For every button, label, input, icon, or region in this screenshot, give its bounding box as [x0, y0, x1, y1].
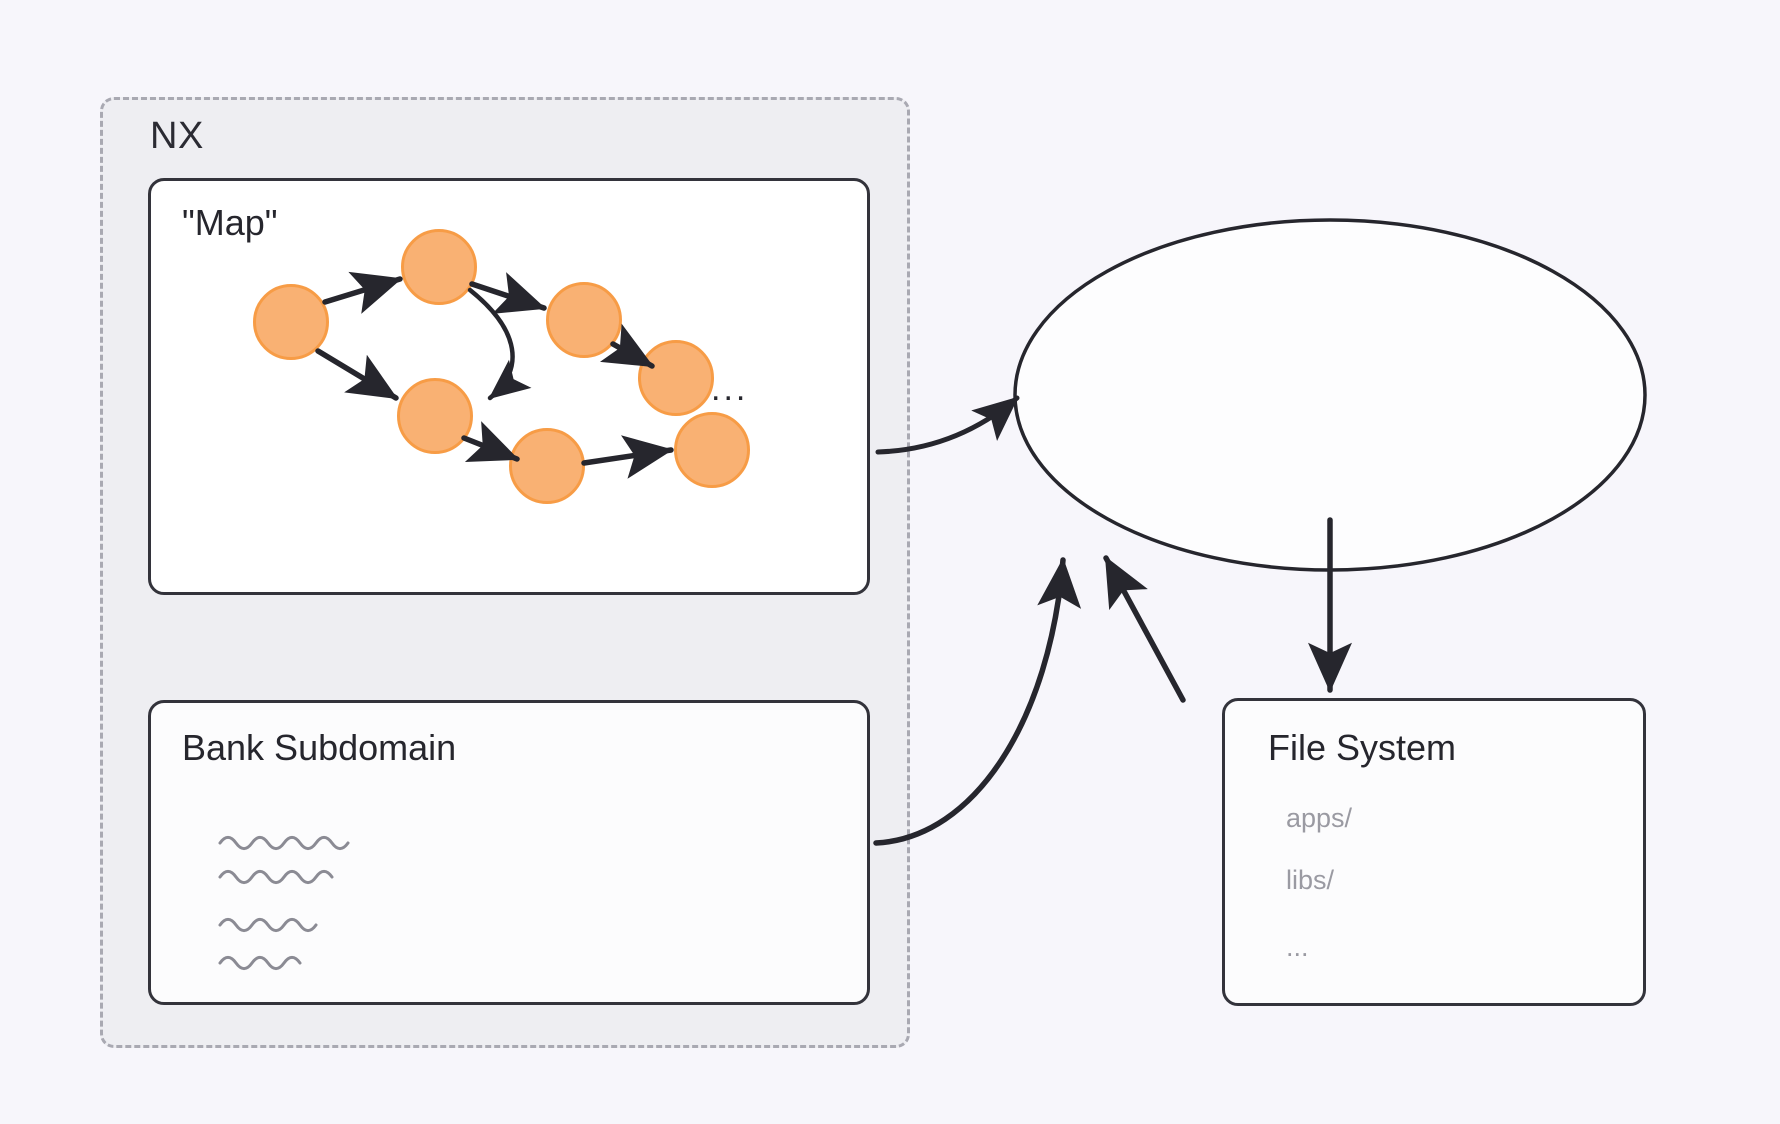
map-graph-node[interactable]	[253, 284, 329, 360]
arrow-filesystem-to-assistant	[1106, 558, 1183, 700]
diagram-canvas: NX "Map" ... Bank Subdomain File System …	[0, 0, 1780, 1124]
map-graph-node[interactable]	[397, 378, 473, 454]
map-graph-node[interactable]	[674, 412, 750, 488]
nx-label: NX	[150, 117, 204, 155]
file-system-title: File System	[1268, 730, 1456, 766]
file-system-entry-apps: apps/	[1286, 805, 1352, 832]
map-graph-node[interactable]	[546, 282, 622, 358]
map-graph-node[interactable]	[638, 340, 714, 416]
coding-assistant-label: Coding Assistant	[1015, 372, 1645, 410]
map-card-title: "Map"	[182, 205, 278, 241]
map-graph-node[interactable]	[401, 229, 477, 305]
file-system-entry-ellipsis: ...	[1286, 934, 1309, 961]
map-ellipsis: ...	[711, 372, 748, 406]
file-system-entry-libs: libs/	[1286, 867, 1334, 894]
bank-subdomain-title: Bank Subdomain	[182, 730, 456, 766]
map-graph-node[interactable]	[509, 428, 585, 504]
